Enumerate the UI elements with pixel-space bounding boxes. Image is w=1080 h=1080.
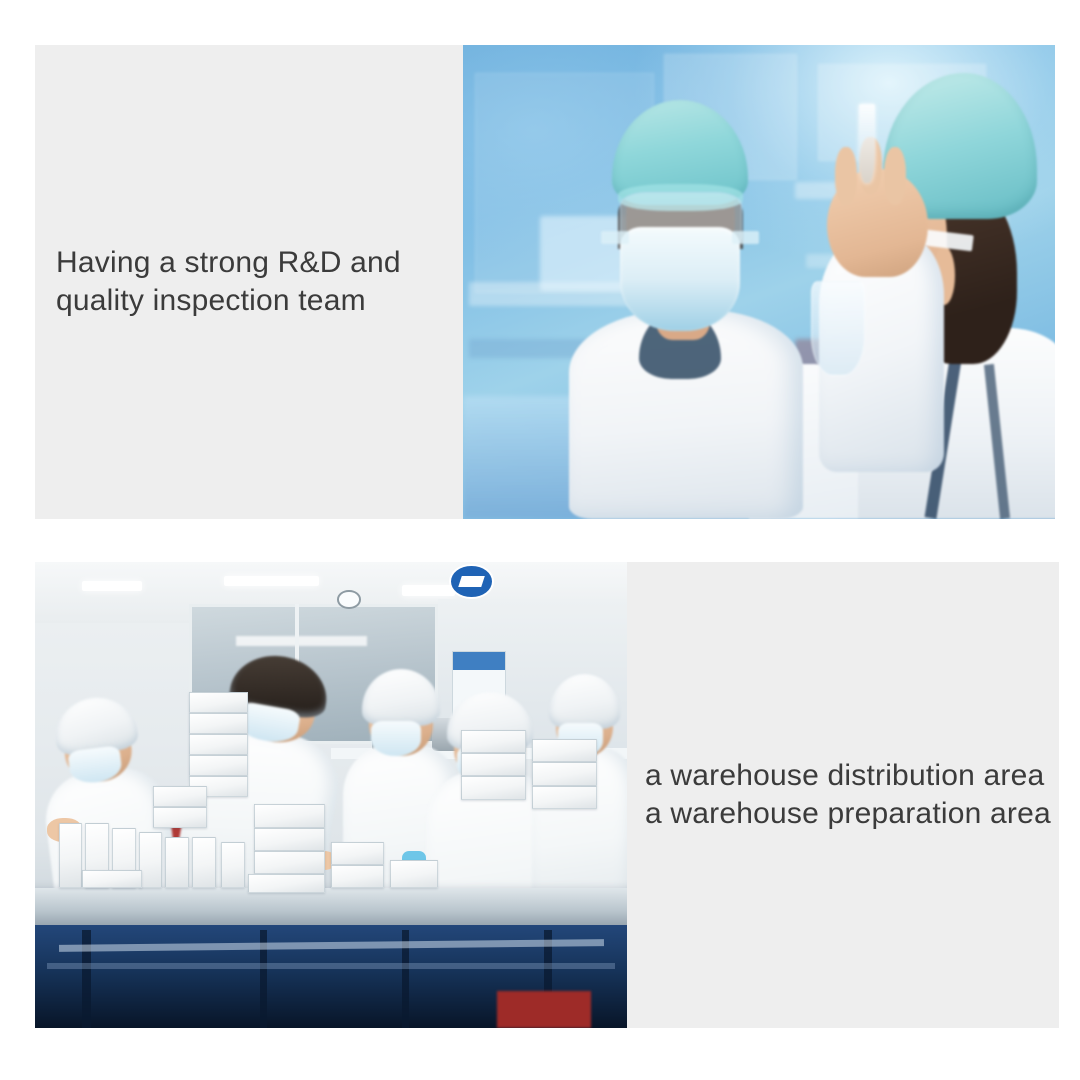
laboratory-quality-inspection-photo (463, 45, 1055, 519)
wall-clock-icon (337, 590, 361, 609)
warehouse-packing-photo (35, 562, 627, 1028)
face-mask (620, 227, 740, 332)
hairnet (549, 674, 619, 729)
carton-box (461, 776, 526, 799)
carton-box (221, 842, 245, 889)
carton-box (532, 786, 597, 809)
carton-box (153, 807, 206, 828)
carton-box (192, 837, 216, 888)
blue-circular-sign-icon (449, 564, 493, 599)
carton-box (82, 870, 141, 889)
caption-panel-rnd: Having a strong R&D and quality inspecti… (35, 45, 463, 519)
caption-line-2: a warehouse preparation area (645, 795, 1051, 833)
carton-box (189, 713, 248, 734)
ceiling-light (82, 581, 141, 591)
carton-box (331, 865, 384, 888)
glass-vial (859, 104, 875, 183)
carton-box (189, 734, 248, 755)
ceiling-light (402, 585, 455, 595)
finger (884, 147, 906, 205)
carton-box (248, 874, 325, 893)
caption-line-1: Having a strong R&D and (56, 244, 453, 282)
table-cross-beam (47, 963, 615, 970)
caption-line-1: a warehouse distribution area (645, 757, 1051, 795)
glass-beaker (811, 281, 865, 377)
section-warehouse-areas: a warehouse distribution area a warehous… (35, 562, 1046, 1028)
face-mask (371, 721, 421, 756)
carton-box (59, 823, 83, 888)
carton-box (390, 860, 437, 888)
face-mask-strap (601, 231, 628, 244)
carton-box (189, 692, 248, 713)
caption-line-2: quality inspection team (56, 282, 453, 320)
blue-hairnet (612, 100, 748, 205)
raised-arm-holding-vial (771, 111, 972, 471)
carton-box (331, 842, 384, 865)
carton-box (254, 828, 325, 851)
carton-box (153, 786, 206, 807)
carton-box (139, 832, 163, 888)
caption-panel-warehouse: a warehouse distribution area a warehous… (627, 562, 1059, 1028)
page-root: Having a strong R&D and quality inspecti… (0, 0, 1080, 1080)
carton-box (165, 837, 189, 888)
carton-box (189, 755, 248, 776)
packing-table-surface (35, 888, 627, 930)
carton-box (254, 804, 325, 827)
section-rnd-quality: Having a strong R&D and quality inspecti… (35, 45, 1055, 519)
face-mask-strap (732, 231, 759, 244)
carton-box (254, 851, 325, 874)
carton-box (532, 762, 597, 785)
finger (835, 147, 857, 205)
carton-box (461, 730, 526, 753)
ceiling-light (224, 576, 319, 586)
red-floor-marking (497, 991, 592, 1028)
carton-box (461, 753, 526, 776)
notice-board-header (453, 652, 504, 671)
carton-box (532, 739, 597, 762)
